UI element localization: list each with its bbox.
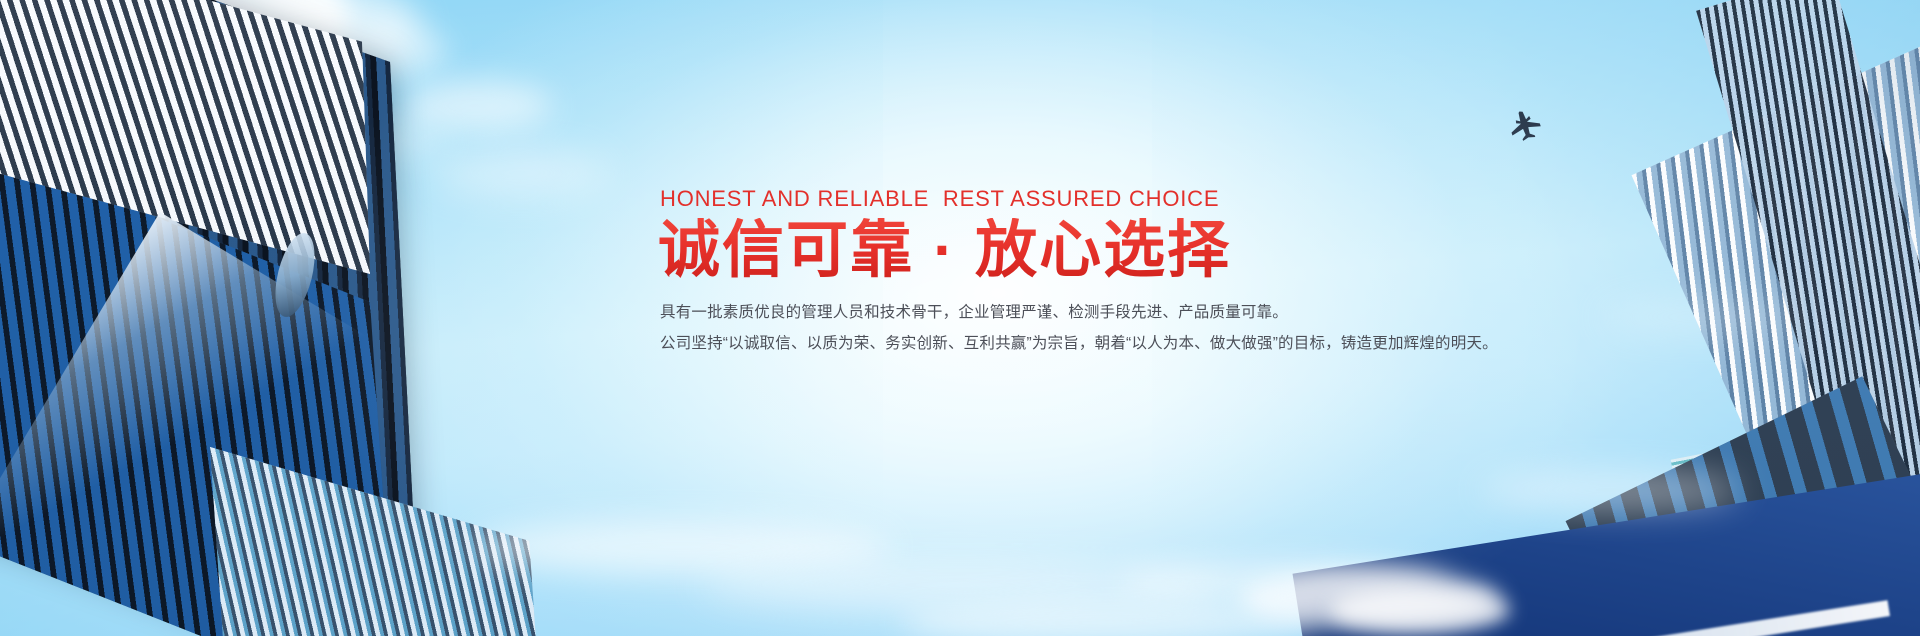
banner-text-block: HONEST AND RELIABLE REST ASSURED CHOICE … [658,186,1418,358]
banner-eyebrow: HONEST AND RELIABLE REST ASSURED CHOICE [660,186,1418,212]
hero-banner: HONEST AND RELIABLE REST ASSURED CHOICE … [0,0,1920,636]
banner-description-line-1: 具有一批素质优良的管理人员和技术骨干，企业管理严谨、检测手段先进、产品质量可靠。 [660,300,1418,326]
banner-description-line-2: 公司坚持“以诚取信、以质为荣、务实创新、互利共赢”为宗旨，朝着“以人为本、做大做… [660,331,1418,357]
banner-headline: 诚信可靠 · 放心选择 [658,218,1418,284]
